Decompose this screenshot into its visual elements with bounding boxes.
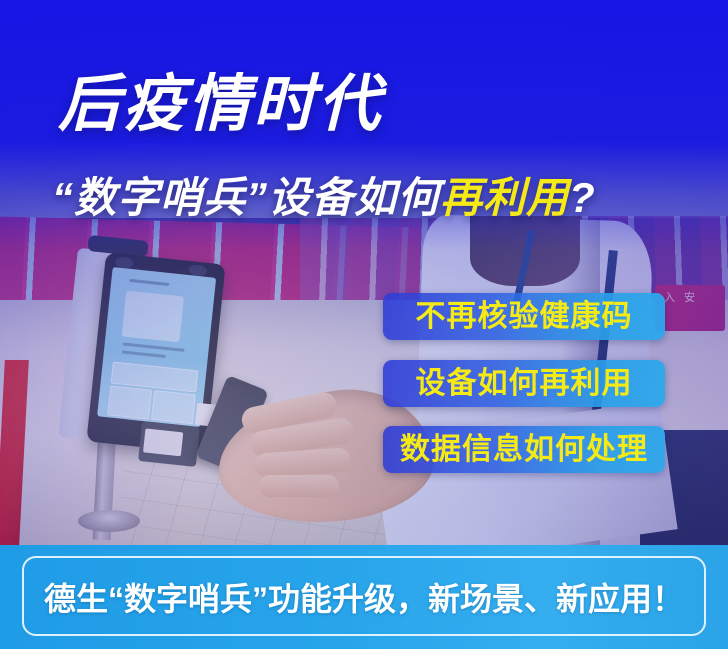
photo-wall-sign-text: 入 安 — [664, 292, 698, 305]
kiosk-screen-line — [129, 279, 169, 286]
photo-finger — [259, 475, 339, 497]
pill-button-1[interactable]: 设备如何再利用 — [383, 360, 665, 407]
bottom-banner-text: 德生“数字哨兵”功能升级，新场景、新应用！ — [0, 545, 728, 649]
pill-button-2[interactable]: 数据信息如何处理 — [383, 426, 665, 473]
pill-button-1-label: 设备如何再利用 — [416, 369, 633, 399]
pill-button-0[interactable]: 不再核验健康码 — [383, 293, 665, 340]
kiosk-reader-label — [143, 428, 183, 456]
kiosk-screen-button — [151, 390, 196, 424]
kiosk-screen-button — [107, 385, 152, 419]
subtitle-part-1: “数字哨兵”设备如何 — [52, 174, 440, 221]
subtitle-highlight: 再利用 — [440, 174, 569, 221]
page-subtitle: “数字哨兵”设备如何再利用? — [52, 177, 596, 219]
poster-root: 入 安 — [0, 0, 728, 649]
kiosk-card-reader — [138, 421, 200, 467]
page-title: 后疫情时代 — [58, 74, 383, 136]
kiosk-screen-line — [122, 350, 166, 358]
pill-button-0-label: 不再核验健康码 — [416, 302, 633, 332]
subtitle-question-mark: ? — [569, 174, 596, 221]
pill-button-2-label: 数据信息如何处理 — [400, 435, 648, 465]
kiosk-screen-card — [122, 291, 184, 343]
kiosk-base — [78, 510, 140, 532]
